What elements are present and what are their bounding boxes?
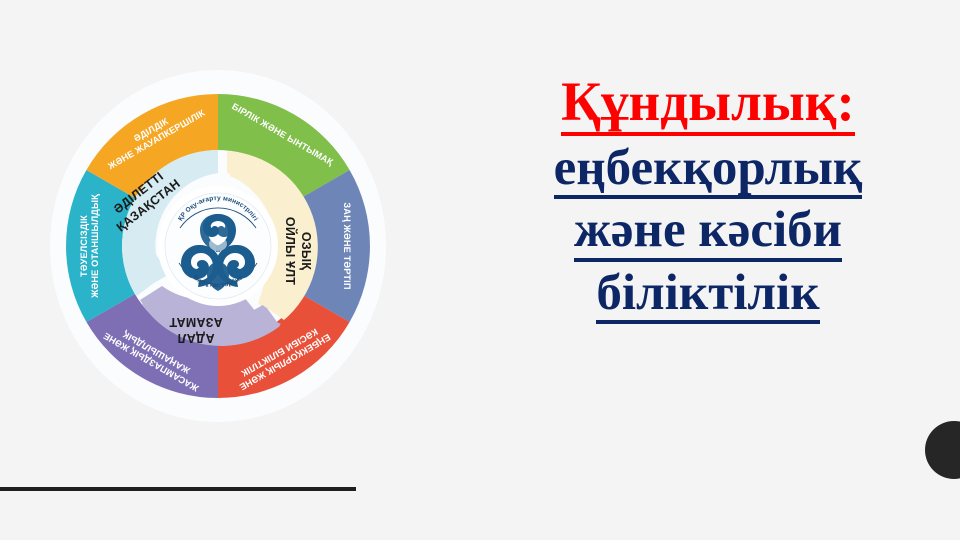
value-line-2-text: және кәсіби bbox=[574, 204, 842, 262]
value-line-1: еңбекқорлық bbox=[470, 142, 946, 200]
center-logo: ҚР Оқу-ағарту министрлігі Біртұтас тәрби… bbox=[158, 186, 278, 306]
outer-label-tauelsizdik-line1: ТӘУЕЛСІЗДІК bbox=[79, 215, 89, 277]
inner-label-ozyq-line2: ОЙЛЫ ҰЛТ bbox=[283, 217, 298, 285]
inner-label-adal-line2: АЗАМАТ bbox=[169, 315, 223, 329]
values-heading-text: Құндылық: bbox=[561, 74, 855, 136]
title-block: Құндылық: еңбекқорлық және кәсіби білікт… bbox=[470, 74, 946, 324]
corner-dot-decoration bbox=[925, 421, 960, 479]
values-wheel-image: БІРЛІК ЖӘНЕ ЫНТЫМАҚ ЗАҢ ЖӘНЕ ТӘРТІП ЕҢБЕ… bbox=[18, 46, 418, 446]
value-line-2: және кәсіби bbox=[470, 204, 946, 262]
bottom-rule-decoration bbox=[0, 487, 356, 491]
value-line-3: біліктілік bbox=[470, 267, 946, 325]
values-heading: Құндылық: bbox=[470, 74, 946, 136]
slide-canvas: БІРЛІК ЖӘНЕ ЫНТЫМАҚ ЗАҢ ЖӘНЕ ТӘРТІП ЕҢБЕ… bbox=[0, 0, 960, 540]
value-line-3-text: біліктілік bbox=[596, 267, 819, 325]
inner-label-adal-line1: АДАЛ bbox=[177, 331, 214, 345]
inner-label-ozyq-line1: ОЗЫҚ bbox=[299, 232, 313, 270]
outer-label-zan: ЗАҢ ЖӘНЕ ТӘРТІП bbox=[342, 202, 352, 289]
outer-label-tauelsizdik-line2: ЖӘНЕ ОТАНШЫЛДЫҚ bbox=[90, 194, 100, 299]
values-wheel-svg: БІРЛІК ЖӘНЕ ЫНТЫМАҚ ЗАҢ ЖӘНЕ ТӘРТІП ЕҢБЕ… bbox=[18, 46, 418, 446]
value-line-1-text: еңбекқорлық bbox=[554, 142, 863, 200]
